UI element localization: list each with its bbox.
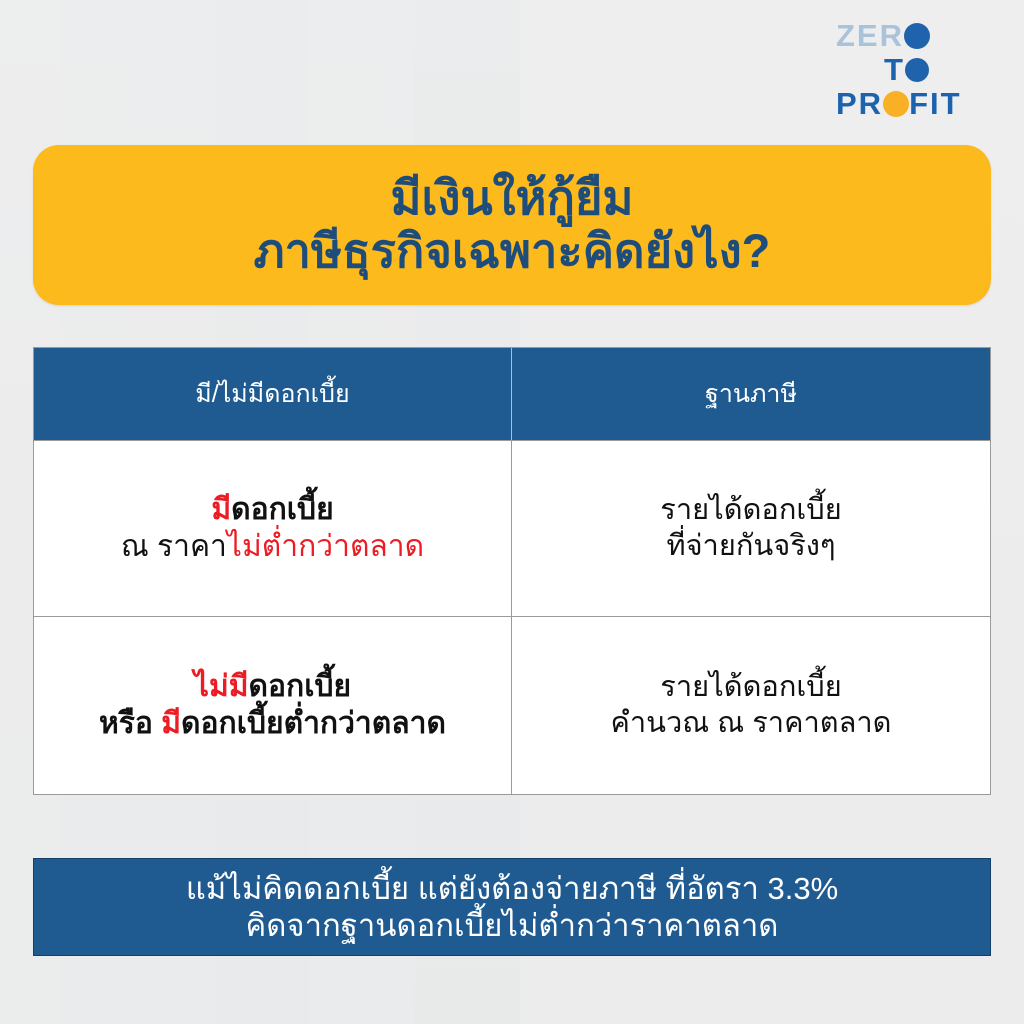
summary-line-1: แม้ไม่คิดดอกเบี้ย แต่ยังต้องจ่ายภาษี ที่…	[186, 870, 838, 907]
table-header-tax-base: ฐานภาษี	[512, 348, 990, 440]
row2-left-line2-black-a: หรือ	[99, 707, 161, 740]
row1-interest-cell: มีดอกเบี้ย ณ ราคาไม่ต่ำกว่าตลาด	[34, 441, 512, 616]
title-line-2: ภาษีธุรกิจเฉพาะคิดยังไง?	[254, 225, 771, 278]
logo-row-to: T	[884, 54, 929, 85]
row1-right-line-1: รายได้ดอกเบี้ย	[660, 493, 841, 528]
logo-o-circle-icon	[904, 23, 930, 49]
row2-left-line2-black-b: ดอกเบี้ยต่ำกว่าตลาด	[181, 707, 446, 740]
logo-row-zero: ZER	[836, 20, 930, 51]
infographic-canvas: ZER T PR FIT มีเงินให้กู้ยืม ภาษีธุรกิจเ…	[0, 0, 1024, 1024]
table-row: มีดอกเบี้ย ณ ราคาไม่ต่ำกว่าตลาด รายได้ดอ…	[34, 440, 990, 616]
row2-interest-cell: ไม่มีดอกเบี้ย หรือ มีดอกเบี้ยต่ำกว่าตลาด	[34, 617, 512, 794]
table-header-row: มี/ไม่มีดอกเบี้ย ฐานภาษี	[34, 348, 990, 440]
logo-text-t: T	[884, 54, 905, 85]
logo-o-circle-icon	[905, 58, 929, 82]
summary-line-2: คิดจากฐานดอกเบี้ยไม่ต่ำกว่าราคาตลาด	[246, 907, 779, 944]
table-row: ไม่มีดอกเบี้ย หรือ มีดอกเบี้ยต่ำกว่าตลาด…	[34, 616, 990, 794]
logo-text-pr: PR	[836, 88, 883, 119]
row1-right-line-2: ที่จ่ายกันจริงๆ	[666, 529, 835, 564]
row2-tax-base-cell: รายได้ดอกเบี้ย คำนวณ ณ ราคาตลาด	[512, 617, 990, 794]
logo-o-circle-orange-icon	[883, 91, 909, 117]
comparison-table: มี/ไม่มีดอกเบี้ย ฐานภาษี มีดอกเบี้ย ณ รา…	[33, 347, 991, 795]
row2-right-line-1: รายได้ดอกเบี้ย	[660, 670, 841, 705]
row2-left-line1-black: ดอกเบี้ย	[249, 670, 352, 703]
row2-left-line1-red: ไม่มี	[194, 670, 249, 703]
logo-text-fit: FIT	[909, 88, 962, 119]
row1-left-line-1: มีดอกเบี้ย	[211, 492, 333, 529]
zero-to-profit-logo: ZER T PR FIT	[836, 18, 996, 110]
title-banner: มีเงินให้กู้ยืม ภาษีธุรกิจเฉพาะคิดยังไง?	[33, 145, 991, 305]
row1-left-line-2: ณ ราคาไม่ต่ำกว่าตลาด	[121, 529, 424, 566]
row2-left-line-1: ไม่มีดอกเบี้ย	[194, 669, 351, 706]
row1-left-line2-red: ไม่ต่ำกว่าตลาด	[227, 530, 424, 563]
row1-tax-base-cell: รายได้ดอกเบี้ย ที่จ่ายกันจริงๆ	[512, 441, 990, 616]
logo-row-profit: PR FIT	[836, 88, 962, 119]
title-line-1: มีเงินให้กู้ยืม	[390, 172, 633, 225]
row2-left-line2-red: มี	[161, 707, 181, 740]
row2-left-line-2: หรือ มีดอกเบี้ยต่ำกว่าตลาด	[99, 706, 446, 743]
row1-left-line2-black: ณ ราคา	[121, 530, 227, 563]
row1-left-line1-black: ดอกเบี้ย	[231, 493, 334, 526]
logo-text-zer: ZER	[836, 20, 904, 51]
row1-left-line1-red: มี	[211, 493, 231, 526]
row2-right-line-2: คำนวณ ณ ราคาตลาด	[611, 706, 892, 741]
table-header-interest: มี/ไม่มีดอกเบี้ย	[34, 348, 512, 440]
summary-banner: แม้ไม่คิดดอกเบี้ย แต่ยังต้องจ่ายภาษี ที่…	[33, 858, 991, 956]
